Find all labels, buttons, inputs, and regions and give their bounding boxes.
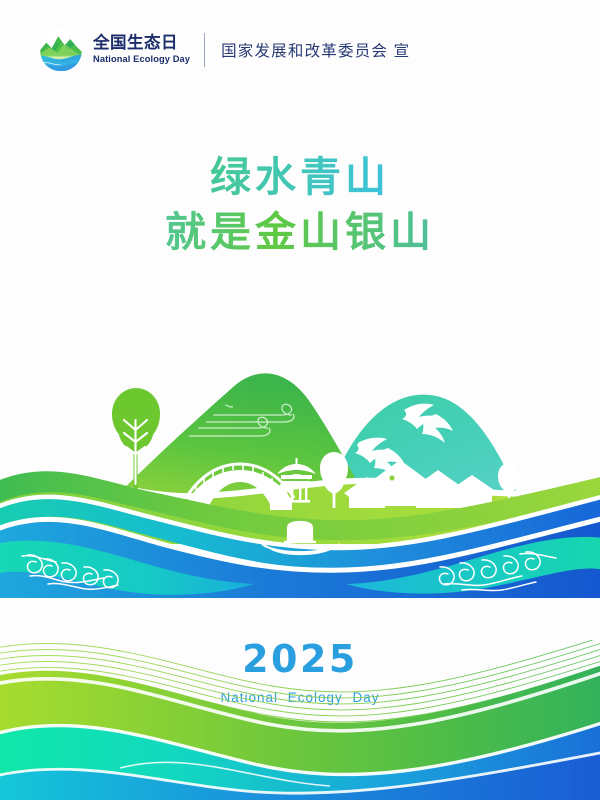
bottom-wave-decoration (0, 640, 600, 800)
header-divider (204, 33, 205, 67)
title-line-1: 绿水青山 (0, 150, 600, 205)
logo-text-block: 全国生态日 National Ecology Day (93, 34, 190, 66)
issuer-label: 国家发展和改革委员会 宣 (221, 39, 410, 61)
page-title: 绿水青山 就是金山银山 (0, 150, 600, 261)
title-line-2: 就是金山银山 (0, 205, 600, 260)
logo-title-cn: 全国生态日 (93, 34, 190, 53)
poster-canvas: 全国生态日 National Ecology Day 国家发展和改革委员会 宣 … (0, 0, 600, 800)
poster-header: 全国生态日 National Ecology Day 国家发展和改革委员会 宣 (0, 0, 600, 100)
logo-title-en: National Ecology Day (93, 54, 190, 66)
landscape-illustration (0, 358, 600, 598)
mountain-water-emblem-icon (38, 27, 84, 73)
